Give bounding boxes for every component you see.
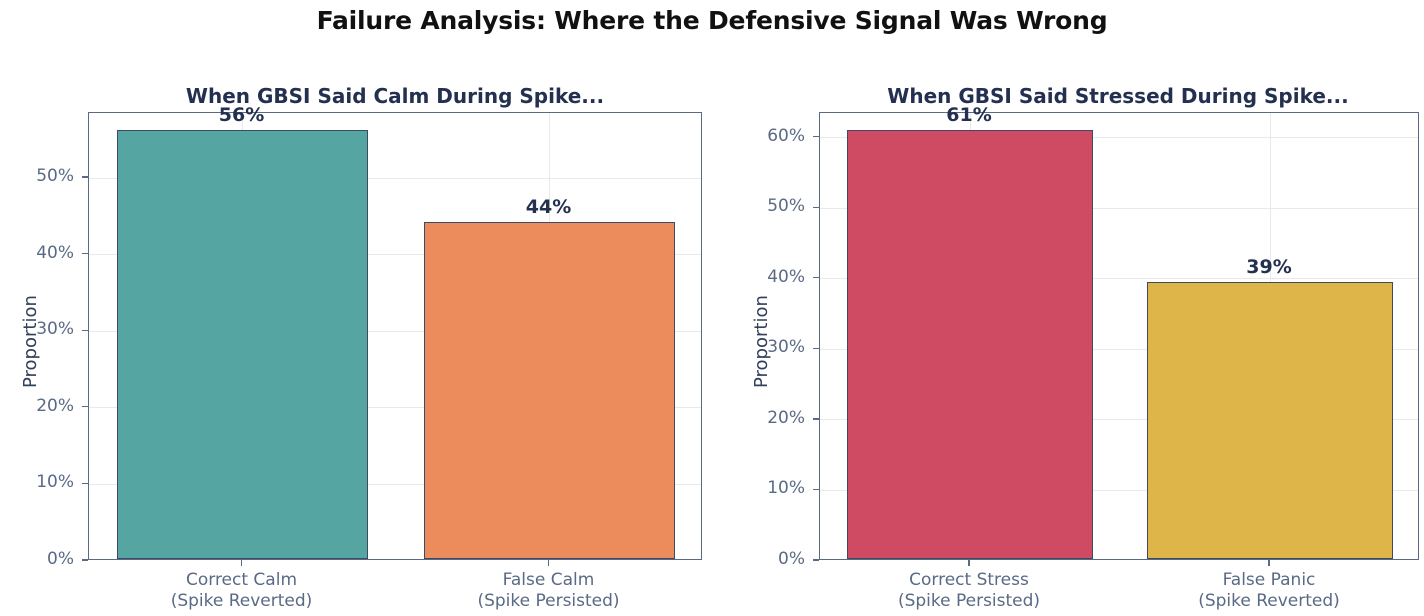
y-tick-label: 30%	[0, 319, 74, 339]
y-tick-label: 40%	[0, 243, 74, 263]
y-tick-mark	[813, 277, 819, 278]
y-tick-mark	[82, 483, 88, 484]
y-tick-mark	[82, 253, 88, 254]
plot-area-left	[88, 112, 702, 560]
x-tick-label: Correct Stress (Spike Persisted)	[819, 570, 1119, 612]
y-tick-mark	[813, 348, 819, 349]
y-tick-label: 10%	[0, 472, 74, 492]
y-tick-mark	[82, 176, 88, 177]
bar[interactable]	[424, 222, 676, 559]
x-tick-label: Correct Calm (Spike Reverted)	[92, 570, 392, 612]
y-tick-mark	[813, 136, 819, 137]
y-tick-mark	[813, 207, 819, 208]
bar[interactable]	[847, 130, 1093, 559]
y-axis-label-left: Proportion	[20, 295, 41, 388]
bar-value-label: 44%	[479, 196, 619, 218]
y-tick-label: 60%	[703, 126, 805, 146]
bar[interactable]	[117, 130, 369, 559]
bar-value-label: 39%	[1199, 256, 1339, 278]
x-tick-mark	[968, 560, 969, 566]
y-tick-label: 50%	[0, 166, 74, 186]
x-tick-mark	[1268, 560, 1269, 566]
y-tick-mark	[82, 559, 88, 560]
y-tick-label: 0%	[703, 549, 805, 569]
y-tick-label: 30%	[703, 337, 805, 357]
y-tick-label: 20%	[0, 396, 74, 416]
x-tick-label: False Panic (Spike Reverted)	[1119, 570, 1419, 612]
y-tick-label: 20%	[703, 408, 805, 428]
y-tick-label: 10%	[703, 478, 805, 498]
y-tick-mark	[82, 406, 88, 407]
x-tick-mark	[241, 560, 242, 566]
y-tick-mark	[813, 559, 819, 560]
x-tick-mark	[548, 560, 549, 566]
plot-area-right	[819, 112, 1419, 560]
subplot-right: When GBSI Said Stressed During Spike... …	[712, 0, 1424, 616]
bar[interactable]	[1147, 282, 1393, 559]
y-tick-mark	[813, 418, 819, 419]
y-tick-mark	[82, 330, 88, 331]
y-tick-label: 50%	[703, 196, 805, 216]
x-tick-label: False Calm (Spike Persisted)	[399, 570, 699, 612]
y-tick-mark	[813, 489, 819, 490]
subplot-left: When GBSI Said Calm During Spike... Prop…	[0, 0, 712, 616]
bar-value-label: 61%	[899, 104, 1039, 126]
y-tick-label: 0%	[0, 549, 74, 569]
figure-canvas: Failure Analysis: Where the Defensive Si…	[0, 0, 1424, 616]
y-tick-label: 40%	[703, 267, 805, 287]
bar-value-label: 56%	[172, 104, 312, 126]
